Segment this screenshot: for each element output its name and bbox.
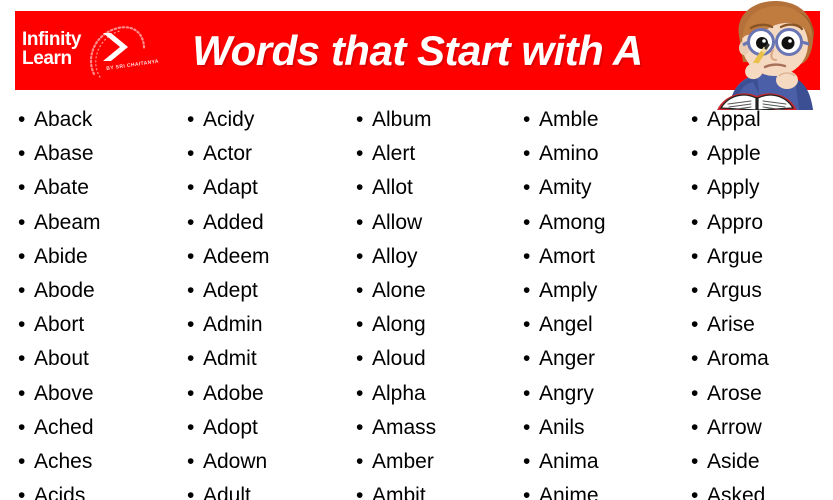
infinity-learn-logo[interactable]: Infinity Learn BY SRI CHAITANYA — [22, 22, 172, 80]
bullet-icon: • — [523, 445, 539, 479]
word-label: Arose — [707, 377, 762, 411]
list-item: •Added — [187, 206, 338, 240]
list-item: •Anils — [523, 411, 675, 445]
list-item: •Along — [356, 308, 507, 342]
bullet-icon: • — [356, 206, 372, 240]
list-item: •Amity — [523, 171, 675, 205]
word-label: Apple — [707, 137, 761, 171]
list-item: •Among — [523, 206, 675, 240]
word-label: Alone — [372, 274, 426, 308]
list-item: •Angel — [523, 308, 675, 342]
word-label: Abode — [34, 274, 95, 308]
bullet-icon: • — [187, 103, 203, 137]
word-label: Admin — [203, 308, 263, 342]
list-item: •Adeem — [187, 240, 338, 274]
list-item: •Amort — [523, 240, 675, 274]
list-item: •Allow — [356, 206, 507, 240]
list-item: •Angry — [523, 377, 675, 411]
list-item: •Alone — [356, 274, 507, 308]
list-item: •Alloy — [356, 240, 507, 274]
bullet-icon: • — [356, 377, 372, 411]
word-label: Ambit — [372, 479, 426, 500]
list-item: •Adapt — [187, 171, 338, 205]
word-label: Allot — [372, 171, 413, 205]
word-label: Amble — [539, 103, 599, 137]
list-item: •Album — [356, 103, 507, 137]
list-item: •Aloud — [356, 342, 507, 376]
bullet-icon: • — [18, 206, 34, 240]
bullet-icon: • — [356, 103, 372, 137]
bullet-icon: • — [356, 240, 372, 274]
bullet-icon: • — [523, 171, 539, 205]
list-item: •Adopt — [187, 411, 338, 445]
bullet-icon: • — [187, 411, 203, 445]
bullet-icon: • — [523, 377, 539, 411]
bullet-icon: • — [18, 171, 34, 205]
list-item: •Aback — [18, 103, 169, 137]
bullet-icon: • — [356, 411, 372, 445]
word-label: Anils — [539, 411, 585, 445]
bullet-icon: • — [187, 206, 203, 240]
bullet-icon: • — [18, 240, 34, 274]
word-label: Anima — [539, 445, 599, 479]
list-item: •Arose — [691, 377, 833, 411]
bullet-icon: • — [691, 445, 707, 479]
list-item: •Ached — [18, 411, 169, 445]
list-item: •Abate — [18, 171, 169, 205]
list-item: •Apple — [691, 137, 833, 171]
list-item: •Apply — [691, 171, 833, 205]
word-label: Amino — [539, 137, 599, 171]
bullet-icon: • — [691, 137, 707, 171]
bullet-icon: • — [18, 137, 34, 171]
bullet-icon: • — [691, 274, 707, 308]
bullet-icon: • — [523, 274, 539, 308]
list-item: •Alpha — [356, 377, 507, 411]
bullet-icon: • — [691, 342, 707, 376]
bullet-icon: • — [187, 171, 203, 205]
word-label: Amply — [539, 274, 597, 308]
bullet-icon: • — [187, 377, 203, 411]
bullet-icon: • — [523, 342, 539, 376]
bullet-icon: • — [523, 137, 539, 171]
word-label: Acidy — [203, 103, 254, 137]
word-label: Abeam — [34, 206, 101, 240]
word-label: Argus — [707, 274, 762, 308]
word-label: Along — [372, 308, 426, 342]
list-item: •Abeam — [18, 206, 169, 240]
bullet-icon: • — [187, 137, 203, 171]
list-item: •Arise — [691, 308, 833, 342]
bullet-icon: • — [691, 377, 707, 411]
word-list: •Aback •Abase •Abate •Abeam •Abide •Abod… — [0, 103, 833, 500]
bullet-icon: • — [18, 274, 34, 308]
chevron-right-icon — [100, 32, 134, 62]
bullet-icon: • — [691, 171, 707, 205]
list-item: •Alert — [356, 137, 507, 171]
word-label: Adown — [203, 445, 267, 479]
word-label: Adult — [203, 479, 251, 500]
list-item: •Abide — [18, 240, 169, 274]
bullet-icon: • — [691, 411, 707, 445]
word-label: Aroma — [707, 342, 769, 376]
word-label: Album — [372, 103, 432, 137]
word-label: Arise — [707, 308, 755, 342]
word-label: About — [34, 342, 89, 376]
bullet-icon: • — [187, 274, 203, 308]
list-item: •Ambit — [356, 479, 507, 500]
bullet-icon: • — [523, 479, 539, 500]
list-item: •Amble — [523, 103, 675, 137]
list-item: •Amber — [356, 445, 507, 479]
logo-line-1: Infinity — [22, 30, 81, 50]
word-label: Aloud — [372, 342, 426, 376]
list-item: •Amino — [523, 137, 675, 171]
bullet-icon: • — [691, 240, 707, 274]
list-item: •Acids — [18, 479, 169, 500]
word-label: Angel — [539, 308, 593, 342]
bullet-icon: • — [187, 308, 203, 342]
bullet-icon: • — [356, 342, 372, 376]
bullet-icon: • — [523, 103, 539, 137]
list-item: •Adobe — [187, 377, 338, 411]
list-item: •Amply — [523, 274, 675, 308]
bullet-icon: • — [18, 411, 34, 445]
word-label: Allow — [372, 206, 422, 240]
word-label: Alloy — [372, 240, 418, 274]
bullet-icon: • — [187, 479, 203, 500]
word-label: Aches — [34, 445, 92, 479]
list-item: •Argus — [691, 274, 833, 308]
list-item: •Adult — [187, 479, 338, 500]
bullet-icon: • — [18, 479, 34, 500]
word-label: Ached — [34, 411, 94, 445]
word-label: Adept — [203, 274, 258, 308]
word-label: Adobe — [203, 377, 264, 411]
student-reading-icon — [699, 0, 831, 110]
bullet-icon: • — [18, 377, 34, 411]
bullet-icon: • — [18, 308, 34, 342]
list-item: •Arrow — [691, 411, 833, 445]
bullet-icon: • — [691, 479, 707, 500]
word-label: Arrow — [707, 411, 762, 445]
bullet-icon: • — [356, 445, 372, 479]
word-column-2: •Acidy •Actor •Adapt •Added •Adeem •Adep… — [169, 103, 338, 500]
word-label: Acids — [34, 479, 85, 500]
list-item: •Aches — [18, 445, 169, 479]
list-item: •Aside — [691, 445, 833, 479]
bullet-icon: • — [187, 445, 203, 479]
bullet-icon: • — [356, 274, 372, 308]
list-item: •Anger — [523, 342, 675, 376]
page-root: Words that Start with A Infinity Learn B… — [0, 0, 833, 500]
bullet-icon: • — [523, 308, 539, 342]
list-item: •Admit — [187, 342, 338, 376]
bullet-icon: • — [356, 479, 372, 500]
list-item: •Amass — [356, 411, 507, 445]
word-label: Actor — [203, 137, 252, 171]
list-item: •Allot — [356, 171, 507, 205]
word-label: Anger — [539, 342, 595, 376]
word-label: Adopt — [203, 411, 258, 445]
bullet-icon: • — [356, 171, 372, 205]
word-label: Above — [34, 377, 94, 411]
word-label: Apply — [707, 171, 760, 205]
list-item: •Abort — [18, 308, 169, 342]
bullet-icon: • — [18, 445, 34, 479]
bullet-icon: • — [18, 103, 34, 137]
word-label: Argue — [707, 240, 763, 274]
list-item: •Argue — [691, 240, 833, 274]
list-item: •Adown — [187, 445, 338, 479]
word-label: Appro — [707, 206, 763, 240]
list-item: •Adept — [187, 274, 338, 308]
list-item: •Actor — [187, 137, 338, 171]
word-column-1: •Aback •Abase •Abate •Abeam •Abide •Abod… — [0, 103, 169, 500]
word-label: Aback — [34, 103, 92, 137]
bullet-icon: • — [187, 240, 203, 274]
word-label: Admit — [203, 342, 257, 376]
word-label: Alert — [372, 137, 415, 171]
list-item: •Abase — [18, 137, 169, 171]
bullet-icon: • — [18, 342, 34, 376]
word-label: Amber — [372, 445, 434, 479]
bullet-icon: • — [691, 206, 707, 240]
word-label: Abase — [34, 137, 94, 171]
word-label: Added — [203, 206, 264, 240]
word-label: Abate — [34, 171, 89, 205]
word-label: Among — [539, 206, 606, 240]
list-item: •Aroma — [691, 342, 833, 376]
list-item: •Appro — [691, 206, 833, 240]
word-column-3: •Album •Alert •Allot •Allow •Alloy •Alon… — [338, 103, 507, 500]
bullet-icon: • — [187, 342, 203, 376]
word-label: Anime — [539, 479, 599, 500]
word-label: Amass — [372, 411, 436, 445]
word-label: Abide — [34, 240, 88, 274]
word-label: Abort — [34, 308, 84, 342]
bullet-icon: • — [356, 308, 372, 342]
list-item: •About — [18, 342, 169, 376]
word-label: Adeem — [203, 240, 270, 274]
bullet-icon: • — [523, 411, 539, 445]
word-column-5: •Appal •Apple •Apply •Appro •Argue •Argu… — [675, 103, 833, 500]
bullet-icon: • — [691, 308, 707, 342]
list-item: •Anime — [523, 479, 675, 500]
list-item: •Asked — [691, 479, 833, 500]
list-item: •Acidy — [187, 103, 338, 137]
bullet-icon: • — [523, 240, 539, 274]
logo-line-2: Learn — [22, 49, 72, 69]
word-label: Amort — [539, 240, 595, 274]
word-label: Angry — [539, 377, 594, 411]
bullet-icon: • — [356, 137, 372, 171]
word-label: Aside — [707, 445, 760, 479]
list-item: •Abode — [18, 274, 169, 308]
bullet-icon: • — [523, 206, 539, 240]
list-item: •Above — [18, 377, 169, 411]
word-label: Amity — [539, 171, 592, 205]
word-label: Adapt — [203, 171, 258, 205]
word-column-4: •Amble •Amino •Amity •Among •Amort •Ampl… — [507, 103, 675, 500]
word-label: Alpha — [372, 377, 426, 411]
word-label: Asked — [707, 479, 765, 500]
list-item: •Anima — [523, 445, 675, 479]
list-item: •Admin — [187, 308, 338, 342]
